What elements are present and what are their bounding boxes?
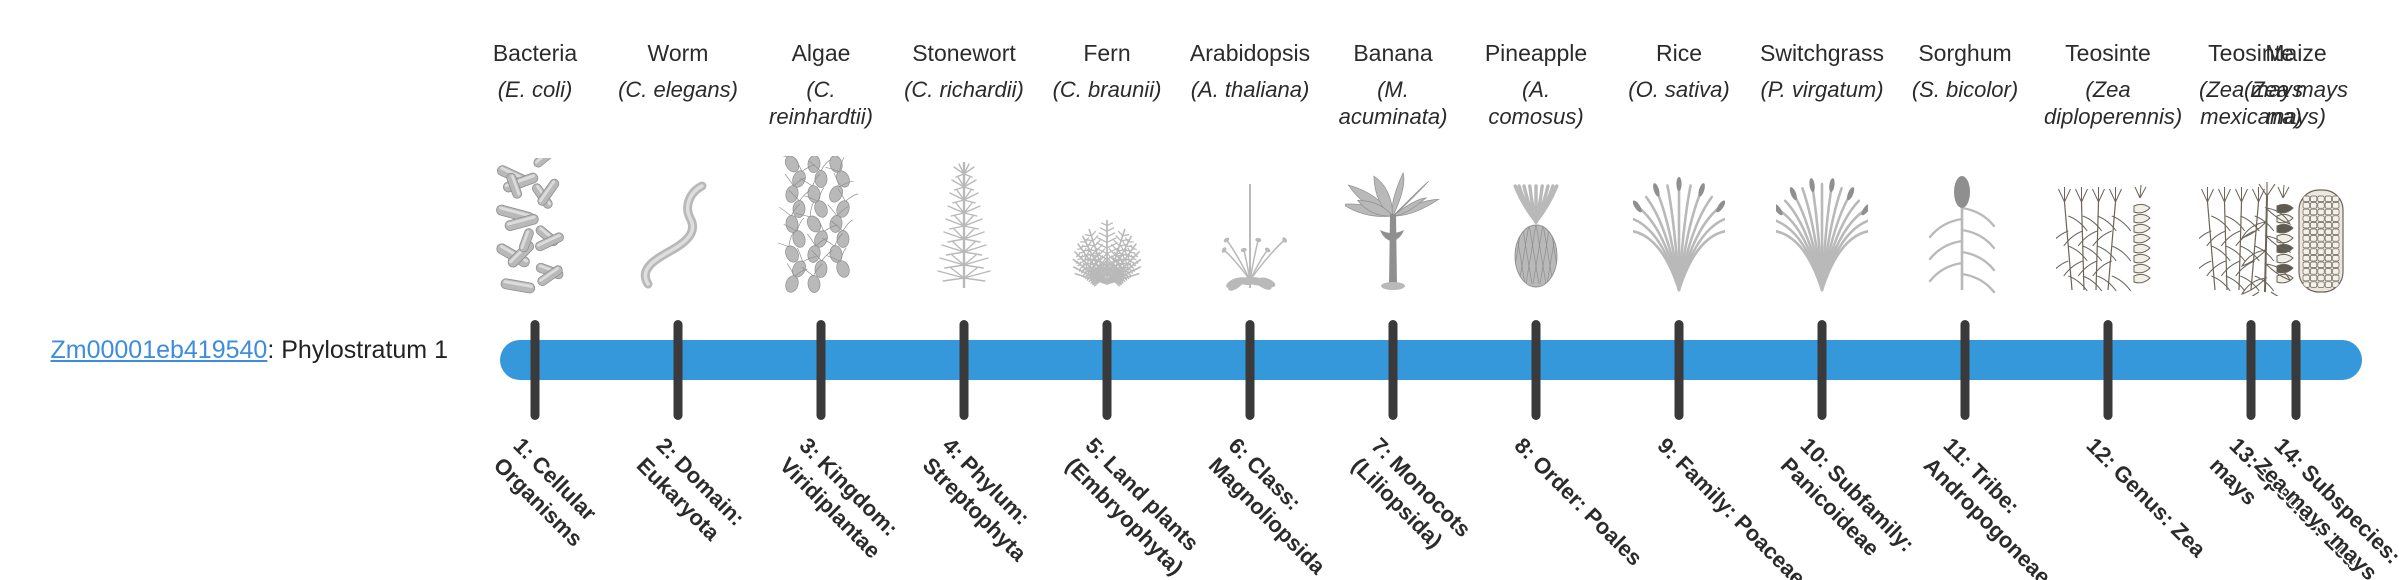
species-column-bacteria-0: Bacteria(E. coli) — [471, 38, 599, 103]
species-latin-name: (P. virgatum) — [1758, 76, 1886, 103]
species-column-teosinte-11: Teosinte(Zea diploperennis) — [2044, 38, 2172, 130]
worm-icon — [613, 168, 743, 296]
stratum-label-3: 3: Kingdom: Viridiplantae — [773, 432, 961, 580]
maize-icon — [2231, 168, 2361, 296]
stratum-tick-9[interactable] — [1675, 320, 1684, 420]
species-column-switchgrass-9: Switchgrass(P. virgatum) — [1758, 38, 1886, 103]
stratum-tick-3[interactable] — [817, 320, 826, 420]
stratum-tick-1[interactable] — [531, 320, 540, 420]
phylostratum-bar[interactable] — [500, 340, 2362, 380]
species-column-rice-8: Rice(O. sativa) — [1615, 38, 1743, 103]
species-latin-name: (C. richardii) — [900, 76, 1028, 103]
gene-id-link[interactable]: Zm00001eb419540 — [50, 336, 267, 364]
stratum-label-13: 13: Species: Zea mays — [2203, 432, 2391, 580]
species-common-name: Switchgrass — [1758, 38, 1886, 68]
stratum-tick-2[interactable] — [674, 320, 683, 420]
species-common-name: Teosinte — [2044, 38, 2172, 68]
arabidopsis-icon — [1185, 168, 1315, 296]
species-latin-name: (C. reinhardtii) — [757, 76, 885, 130]
sorghum-icon — [1900, 168, 2030, 296]
stratum-label-14: 14: Subspecies: Zea mays mays — [2248, 432, 2400, 580]
stratum-label-12: 12: Genus: Zea — [2080, 432, 2248, 580]
species-column-banana-6: Banana(M. acuminata) — [1329, 38, 1457, 130]
stratum-label-11: 11: Tribe: Andropogoneae — [1917, 432, 2105, 580]
stratum-label-5: 5: Land plants (Embryophyta) — [1059, 432, 1247, 580]
species-common-name: Rice — [1615, 38, 1743, 68]
species-column-stonewort-3: Stonewort(C. richardii) — [900, 38, 1028, 103]
species-common-name: Algae — [757, 38, 885, 68]
species-latin-name: (C. braunii) — [1043, 76, 1171, 103]
species-common-name: Worm — [614, 38, 742, 68]
species-column-worm-1: Worm(C. elegans) — [614, 38, 742, 103]
bacteria-icon — [470, 168, 600, 296]
fern-icon — [1042, 168, 1172, 296]
species-latin-name: (A. comosus) — [1472, 76, 1600, 130]
stratum-tick-11[interactable] — [1961, 320, 1970, 420]
species-column-maize-13: Maize(Zea mays mays) — [2232, 38, 2360, 130]
species-common-name: Bacteria — [471, 38, 599, 68]
species-common-name: Maize — [2232, 38, 2360, 68]
stratum-tick-8[interactable] — [1532, 320, 1541, 420]
stratum-tick-5[interactable] — [1103, 320, 1112, 420]
species-common-name: Sorghum — [1901, 38, 2029, 68]
species-latin-name: (S. bicolor) — [1901, 76, 2029, 103]
species-common-name: Banana — [1329, 38, 1457, 68]
species-latin-name: (Zea mays mays) — [2232, 76, 2360, 130]
label-separator: : — [267, 336, 281, 364]
species-latin-name: (A. thaliana) — [1186, 76, 1314, 103]
species-latin-name: (Zea diploperennis) — [2044, 76, 2172, 130]
switchgrass-icon — [1757, 168, 1887, 296]
species-latin-name: (O. sativa) — [1615, 76, 1743, 103]
stonewort-icon — [899, 168, 1029, 296]
species-column-arabidopsis-5: Arabidopsis(A. thaliana) — [1186, 38, 1314, 103]
stratum-label-4: 4: Phylum: Streptophyta — [916, 432, 1104, 580]
species-common-name: Stonewort — [900, 38, 1028, 68]
banana-icon — [1328, 168, 1458, 296]
gene-phylostratum-label: Zm00001eb419540: Phylostratum 1 — [0, 335, 460, 365]
stratum-label-9: 9: Family: Poaceae — [1651, 432, 1819, 580]
stratum-label-6: 6: Class: Magnoliopsida — [1202, 432, 1390, 580]
stratum-tick-7[interactable] — [1389, 320, 1398, 420]
teosinte-diploperennis-icon — [2043, 168, 2173, 296]
stratum-tick-12[interactable] — [2104, 320, 2113, 420]
species-column-sorghum-10: Sorghum(S. bicolor) — [1901, 38, 2029, 103]
pineapple-icon — [1471, 168, 1601, 296]
stratum-label-1: 1: Cellular Organisms — [487, 432, 675, 580]
species-column-algae-2: Algae(C. reinhardtii) — [757, 38, 885, 130]
species-column-fern-4: Fern(C. braunii) — [1043, 38, 1171, 103]
species-common-name: Pineapple — [1472, 38, 1600, 68]
phylostratum-value: Phylostratum 1 — [281, 336, 448, 364]
species-column-pineapple-7: Pineapple(A. comosus) — [1472, 38, 1600, 130]
stratum-tick-4[interactable] — [960, 320, 969, 420]
stratum-label-10: 10: Subfamily: Panicoideae — [1774, 432, 1962, 580]
species-common-name: Arabidopsis — [1186, 38, 1314, 68]
species-latin-name: (M. acuminata) — [1329, 76, 1457, 130]
species-latin-name: (C. elegans) — [614, 76, 742, 103]
stratum-label-7: 7: Monocots (Liliopsida) — [1345, 432, 1533, 580]
species-common-name: Fern — [1043, 38, 1171, 68]
stratum-tick-6[interactable] — [1246, 320, 1255, 420]
stratum-label-2: 2: Domain: Eukaryota — [630, 432, 818, 580]
stratum-tick-14[interactable] — [2292, 320, 2301, 420]
stratum-tick-13[interactable] — [2247, 320, 2256, 420]
stratum-label-8: 8: Order: Poales — [1508, 432, 1676, 580]
species-latin-name: (E. coli) — [471, 76, 599, 103]
stratum-tick-10[interactable] — [1818, 320, 1827, 420]
phylostratigraphy-figure: Zm00001eb419540: Phylostratum 1 Bacteria… — [0, 0, 2400, 580]
rice-icon — [1614, 168, 1744, 296]
algae-icon — [756, 168, 886, 296]
